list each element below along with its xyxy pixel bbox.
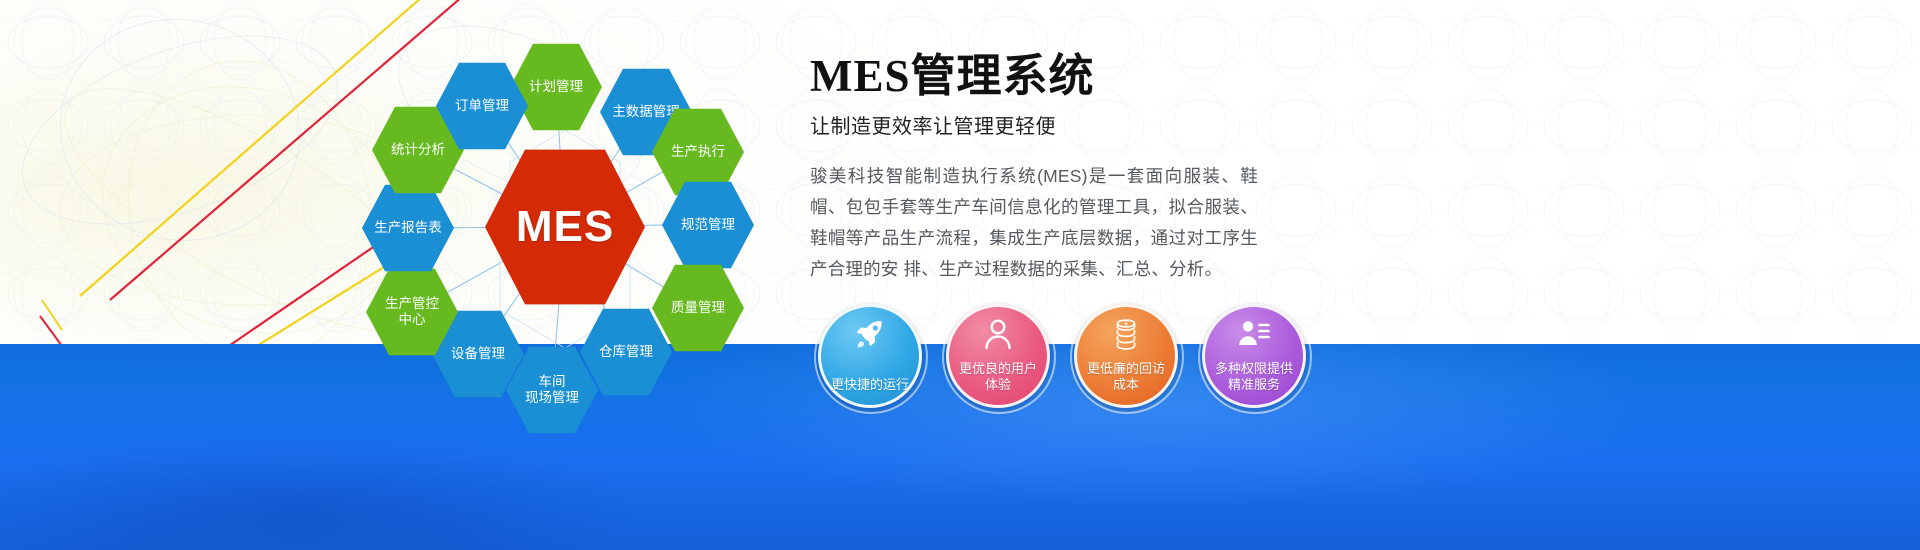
page-title: MES管理系统 <box>810 52 1810 102</box>
badge-multi-permission-service[interactable]: 多种权限提供精准服务 <box>1202 304 1306 408</box>
banner-stage: MES 计划管理 主数据管理 生产执行 规范管理 质量管理 仓库管理 车间现场管… <box>0 0 1920 550</box>
page-subtitle: 让制造更效率让管理更轻便 <box>810 110 1810 139</box>
user-list-icon <box>1238 318 1270 350</box>
hex-node-label: 质量管理 <box>652 300 744 316</box>
hex-center-label: MES <box>485 202 645 253</box>
hex-node-label: 生产执行 <box>652 144 744 160</box>
hex-node-label: 车间现场管理 <box>506 374 598 405</box>
mes-hexagon-diagram: MES 计划管理 主数据管理 生产执行 规范管理 质量管理 仓库管理 车间现场管… <box>330 12 800 432</box>
hex-node-label: 计划管理 <box>510 79 602 95</box>
coins-icon: ¥ <box>1110 318 1142 350</box>
hex-node-label: 生产报告表 <box>362 220 454 236</box>
rocket-icon <box>854 318 886 350</box>
hex-node-label: 仓库管理 <box>580 344 672 360</box>
user-icon <box>982 318 1014 350</box>
hex-node-label: 生产管控中心 <box>366 296 458 327</box>
badge-better-user-experience[interactable]: 更优良的用户体验 <box>946 304 1050 408</box>
badge-faster-operation[interactable]: 更快捷的运行 <box>818 304 922 408</box>
banner-text-column: MES管理系统 让制造更效率让管理更轻便 骏美科技智能制造执行系统(MES)是一… <box>810 52 1810 285</box>
description-paragraph: 骏美科技智能制造执行系统(MES)是一套面向服装、鞋帽、包包手套等生产车间信息化… <box>810 161 1258 285</box>
feature-badge-group: 更快捷的运行 更优良的用户体验 ¥ 更低廉的回访成 <box>818 300 1438 420</box>
hex-node-label: 规范管理 <box>662 217 754 233</box>
hex-node-label: 订单管理 <box>436 98 528 114</box>
badge-lower-revisit-cost[interactable]: ¥ 更低廉的回访成本 <box>1074 304 1178 408</box>
hex-node-label: 统计分析 <box>372 142 464 158</box>
hex-node-label: 设备管理 <box>432 346 524 362</box>
